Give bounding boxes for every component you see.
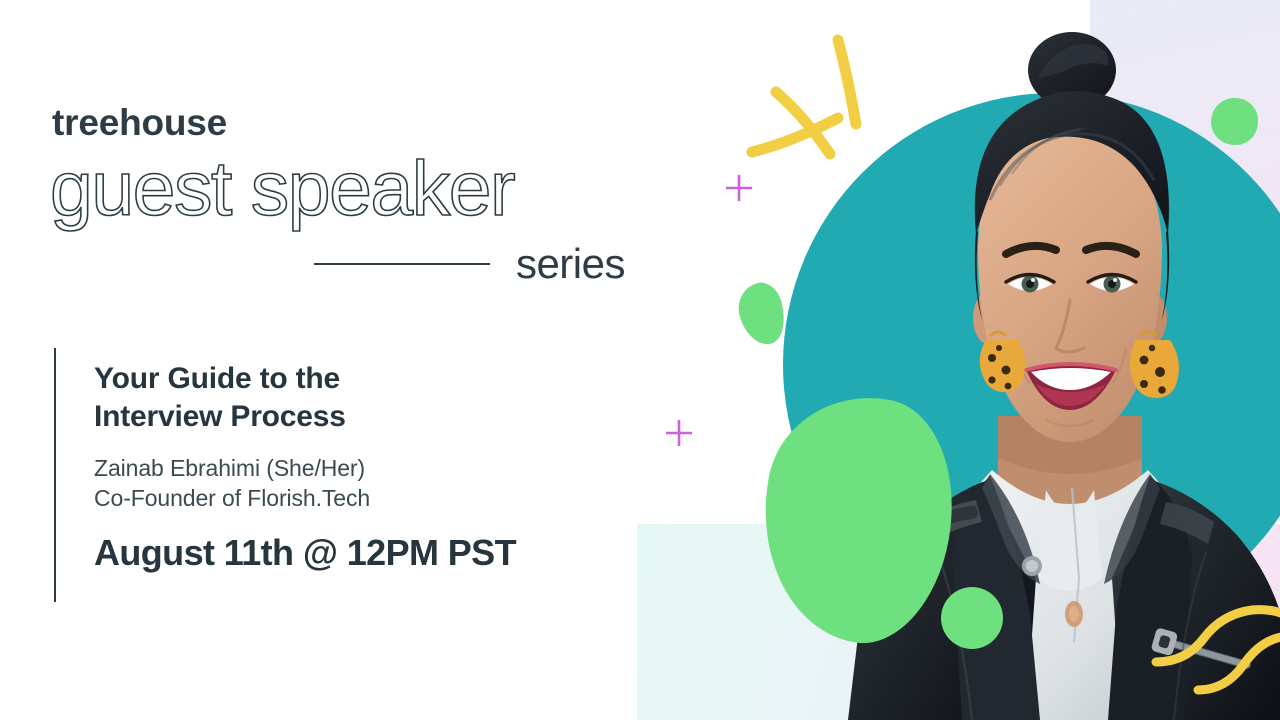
promo-graphic: treehouse guest speaker series Your Guid… <box>0 0 1280 720</box>
headline-block: treehouse guest speaker series <box>50 104 650 285</box>
talk-title-line-1: Your Guide to the <box>94 360 516 398</box>
series-row: series <box>50 243 625 285</box>
green-circle-bottom <box>941 587 1003 649</box>
series-divider-rule <box>314 263 490 265</box>
speaker-name: Zainab Ebrahimi (She/Her) <box>94 453 516 484</box>
talk-title: Your Guide to the Interview Process <box>94 360 516 437</box>
talk-title-line-2: Interview Process <box>94 398 516 436</box>
yellow-squiggle-icon <box>1160 580 1280 700</box>
event-detail-block: Your Guide to the Interview Process Zain… <box>54 348 516 602</box>
series-word: series <box>516 243 625 285</box>
event-datetime: August 11th @ 12PM PST <box>94 535 516 571</box>
series-title: guest speaker <box>50 149 650 231</box>
speaker-role: Co-Founder of Florish.Tech <box>94 483 516 514</box>
yellow-spark-icon <box>744 30 904 190</box>
green-blob-small <box>732 278 791 350</box>
magenta-plus-icon-middle <box>664 418 694 448</box>
magenta-plus-icon-top <box>724 173 754 203</box>
brand-wordmark: treehouse <box>52 104 650 141</box>
